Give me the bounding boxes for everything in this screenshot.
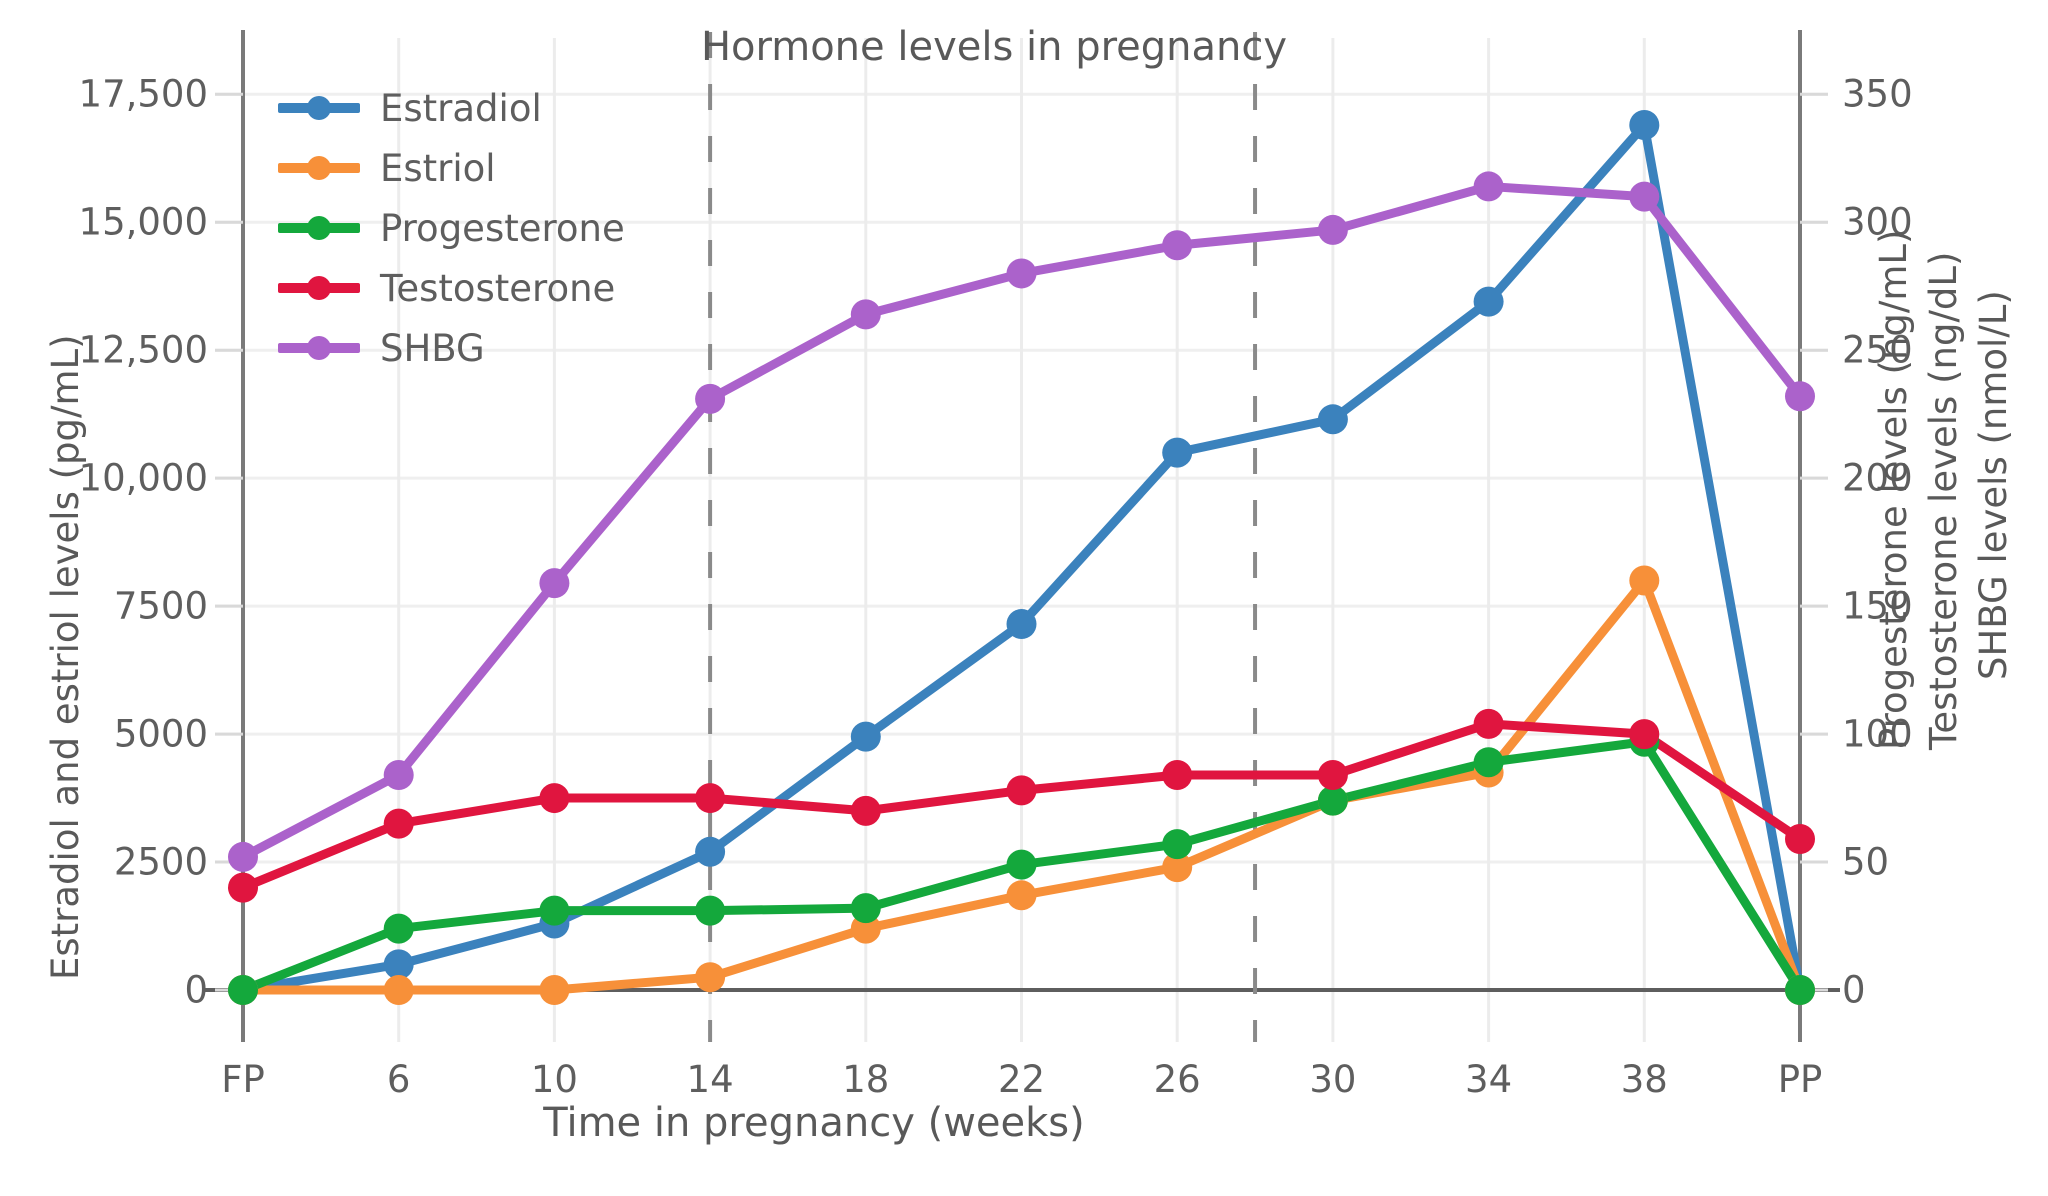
data-point-progesterone (1162, 829, 1192, 859)
data-point-estradiol (1318, 404, 1348, 434)
data-point-estriol (539, 975, 569, 1005)
x-axis-tick-label: 30 (1309, 1058, 1356, 1101)
data-point-estriol (695, 962, 725, 992)
x-axis-tick-label: 38 (1621, 1058, 1668, 1101)
data-point-estradiol (1629, 110, 1659, 140)
legend-item-estriol[interactable]: Estriol (278, 138, 625, 198)
data-point-estradiol (1162, 438, 1192, 468)
data-point-progesterone (1785, 975, 1815, 1005)
data-point-estradiol (851, 722, 881, 752)
data-point-shbg (1318, 215, 1348, 245)
legend-item-shbg[interactable]: SHBG (278, 318, 625, 378)
y-axis-left-tick-label: 12,500 (0, 329, 208, 372)
data-point-estradiol (695, 837, 725, 867)
data-point-shbg (1785, 381, 1815, 411)
data-point-testosterone (228, 873, 258, 903)
y-axis-left-tick-label: 5000 (0, 713, 208, 756)
data-point-progesterone (539, 896, 569, 926)
data-point-shbg (695, 384, 725, 414)
data-point-estradiol (384, 949, 414, 979)
x-axis-tick-label: 26 (1154, 1058, 1201, 1101)
legend-item-estradiol[interactable]: Estradiol (278, 78, 625, 138)
legend-label: Testosterone (380, 267, 615, 310)
legend-swatch-shbg-icon (278, 343, 360, 353)
y-axis-right-title-shbg: SHBG levels (nmol/L) (1972, 290, 2015, 680)
x-axis-tick-label: PP (1778, 1058, 1823, 1101)
y-axis-left-tick-label: 7500 (0, 585, 208, 628)
data-point-estriol (384, 975, 414, 1005)
x-axis-tick-label: 18 (842, 1058, 889, 1101)
y-axis-left-title: Estradiol and estriol levels (pg/mL) (44, 334, 87, 980)
data-point-progesterone (228, 975, 258, 1005)
data-point-estriol (1007, 880, 1037, 910)
x-axis-tick-label: 22 (998, 1058, 1045, 1101)
data-point-progesterone (1007, 850, 1037, 880)
data-point-estradiol (1007, 609, 1037, 639)
y-axis-left-tick-label: 2500 (0, 841, 208, 884)
data-point-shbg (384, 760, 414, 790)
legend-swatch-estriol-icon (278, 163, 360, 173)
data-point-shbg (1629, 182, 1659, 212)
x-axis-tick-label: 10 (531, 1058, 578, 1101)
data-point-shbg (1162, 230, 1192, 260)
data-point-shbg (539, 568, 569, 598)
data-point-testosterone (1318, 760, 1348, 790)
data-point-estradiol (1474, 287, 1504, 317)
x-axis-tick-label: 34 (1465, 1058, 1512, 1101)
chart-container: Hormone levels in pregnancy Time in preg… (0, 0, 2048, 1196)
data-point-testosterone (539, 783, 569, 813)
y-axis-right-title-progesterone: Progesterone levels (ng/mL) (1872, 230, 1915, 750)
data-point-testosterone (1474, 709, 1504, 739)
legend-label: SHBG (380, 327, 485, 370)
data-point-testosterone (695, 783, 725, 813)
data-point-testosterone (384, 809, 414, 839)
legend-label: Progesterone (380, 207, 625, 250)
data-point-estriol (1629, 566, 1659, 596)
legend-swatch-testosterone-icon (278, 283, 360, 293)
y-axis-left-tick-label: 15,000 (0, 201, 208, 244)
y-axis-right-title-testosterone: Testosterone levels (ng/dL) (1922, 252, 1965, 750)
x-axis-title: Time in pregnancy (weeks) (0, 1100, 1838, 1146)
x-axis-tick-label: 6 (387, 1058, 411, 1101)
x-axis-tick-label: FP (221, 1058, 265, 1101)
data-point-testosterone (1162, 760, 1192, 790)
y-axis-right-tick-label: 350 (1842, 73, 2042, 116)
y-axis-right-tick-label: 0 (1842, 969, 2042, 1012)
y-axis-left-tick-label: 10,000 (0, 457, 208, 500)
x-axis-tick-label: 14 (687, 1058, 734, 1101)
data-point-shbg (1474, 171, 1504, 201)
data-point-shbg (228, 842, 258, 872)
data-point-progesterone (1474, 747, 1504, 777)
legend-item-progesterone[interactable]: Progesterone (278, 198, 625, 258)
data-point-testosterone (1629, 719, 1659, 749)
data-point-progesterone (384, 914, 414, 944)
data-point-progesterone (695, 896, 725, 926)
y-axis-left-tick-label: 0 (0, 969, 208, 1012)
y-axis-right-tick-label: 50 (1842, 841, 2042, 884)
data-point-testosterone (1007, 775, 1037, 805)
legend-label: Estriol (380, 147, 496, 190)
legend-swatch-estradiol-icon (278, 103, 360, 113)
chart-legend: EstradiolEstriolProgesteroneTestosterone… (278, 78, 625, 378)
legend-item-testosterone[interactable]: Testosterone (278, 258, 625, 318)
data-point-progesterone (1318, 786, 1348, 816)
y-axis-left-tick-label: 17,500 (0, 73, 208, 116)
chart-title: Hormone levels in pregnancy (0, 24, 2018, 70)
data-point-testosterone (851, 796, 881, 826)
data-point-shbg (851, 299, 881, 329)
data-point-testosterone (1785, 824, 1815, 854)
legend-label: Estradiol (380, 87, 542, 130)
data-point-shbg (1007, 258, 1037, 288)
legend-swatch-progesterone-icon (278, 223, 360, 233)
data-point-progesterone (851, 893, 881, 923)
